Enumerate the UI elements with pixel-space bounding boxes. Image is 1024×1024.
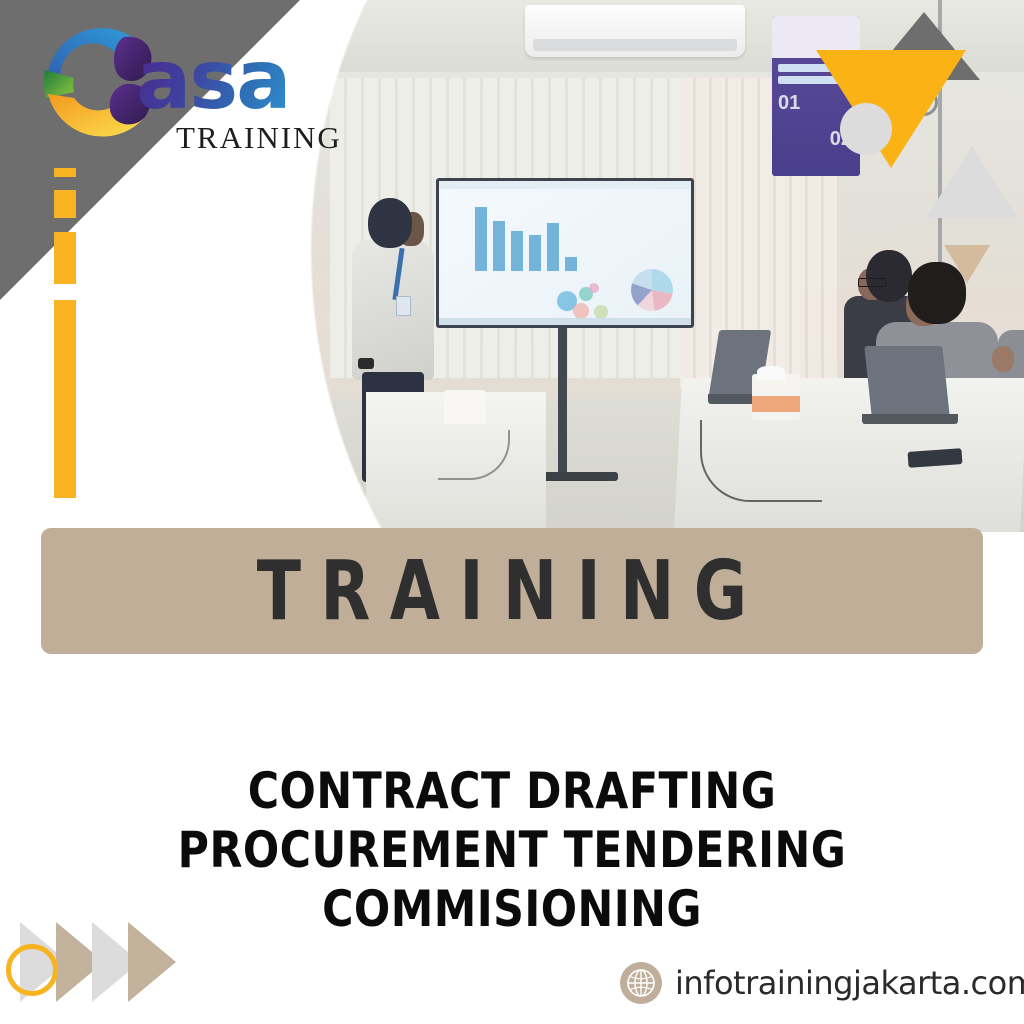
presenter-badge: [396, 296, 411, 316]
training-banner: TRAINING: [41, 528, 983, 654]
display-screen: [436, 178, 694, 328]
amber-dash-2: [54, 190, 76, 218]
poster-canvas: 01 02: [0, 0, 1024, 1024]
cable: [700, 420, 822, 502]
tissue-box: [752, 374, 800, 420]
website-url[interactable]: infotrainingjakarta.com: [675, 964, 1024, 1002]
air-conditioner-icon: [525, 5, 745, 57]
tissue-box: [444, 390, 486, 424]
logo-wordmark: asa: [136, 40, 289, 122]
footer: infotrainingjakarta.com: [620, 962, 1024, 1004]
page-title: CONTRACT DRAFTING PROCUREMENT TENDERING …: [26, 762, 999, 939]
participant-head: [866, 250, 912, 302]
presenter-head: [368, 198, 412, 248]
light-grey-triangle-up-decor: [926, 146, 1018, 218]
screen-stand: [558, 328, 567, 478]
pie-chart: [631, 269, 673, 311]
orange-ring-decor: [6, 944, 58, 996]
participant-hand: [992, 346, 1014, 372]
amber-dash-1: [54, 168, 76, 177]
laptop: [864, 346, 949, 416]
light-grey-circle-decor: [840, 103, 892, 155]
tan-triangle-down-decor: [944, 245, 990, 283]
brand-logo: asa TRAINING: [28, 12, 328, 162]
chevron-arrow-4: [128, 922, 176, 1002]
training-banner-label: TRAINING: [257, 544, 767, 639]
globe-icon: [620, 962, 662, 1004]
title-line-2: PROCUREMENT TENDERING: [26, 821, 999, 880]
logo-subtitle: TRAINING: [176, 120, 342, 156]
title-line-1: CONTRACT DRAFTING: [26, 762, 999, 821]
participant-glasses: [858, 278, 886, 287]
presenter-watch: [358, 358, 374, 369]
amber-dash-4: [54, 300, 76, 498]
laptop-base: [862, 414, 958, 424]
amber-dash-3: [54, 232, 76, 284]
